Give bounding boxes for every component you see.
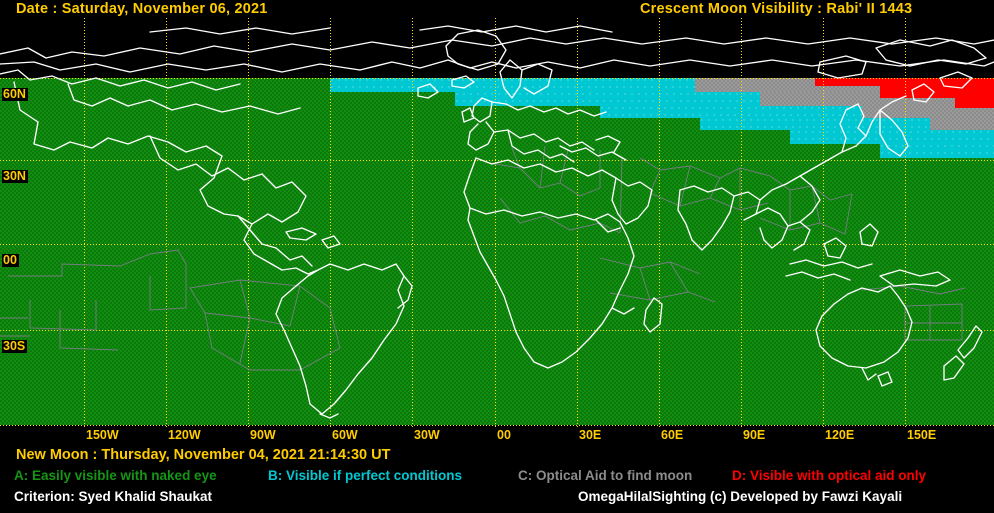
longitude-tick-label: 90E: [743, 427, 765, 443]
footer-bar: New Moon : Thursday, November 04, 2021 2…: [0, 447, 994, 513]
latitude-tick-label: 00: [2, 254, 19, 267]
gridline-meridian: [84, 18, 85, 428]
gridline-meridian: [905, 18, 906, 428]
zone-d-band: [880, 86, 994, 98]
credit-label: OmegaHilalSighting (c) Developed by Fawz…: [578, 489, 902, 504]
latitude-tick-label: 30S: [2, 340, 27, 353]
header-bar: Date : Saturday, November 06, 2021 Cresc…: [0, 0, 994, 20]
criterion-label: Criterion: Syed Khalid Shaukat: [14, 489, 212, 504]
longitude-tick-label: 60W: [332, 427, 358, 443]
gridline-parallel: [0, 160, 994, 161]
legend-d: D: Visible with optical aid only: [732, 468, 926, 483]
date-label: Date : Saturday, November 06, 2021: [16, 1, 268, 17]
zone-b-band: [880, 144, 994, 158]
gridline-meridian: [412, 18, 413, 428]
gridline-parallel: [0, 330, 994, 331]
zone-d-band: [955, 98, 994, 108]
longitude-tick-label: 90W: [250, 427, 276, 443]
longitude-tick-label: 30E: [579, 427, 601, 443]
longitude-labels: 150W120W90W60W30W0030E60E90E120E150E: [0, 427, 994, 447]
gridline-parallel: [0, 244, 994, 245]
longitude-tick-label: 60E: [661, 427, 683, 443]
legend-b: B: Visible if perfect conditions: [268, 468, 462, 483]
gridline-parallel: [0, 78, 994, 79]
zone-b-band: [790, 130, 994, 144]
latitude-tick-label: 30N: [2, 170, 28, 183]
world-map: 60N30N0030S60S: [0, 18, 994, 428]
gridline-meridian: [659, 18, 660, 428]
zone-c-band: [930, 118, 994, 130]
gridline-meridian: [166, 18, 167, 428]
longitude-tick-label: 120E: [825, 427, 854, 443]
longitude-tick-label: 120W: [168, 427, 201, 443]
visibility-map-app: Date : Saturday, November 06, 2021 Cresc…: [0, 0, 994, 513]
gridline-meridian: [248, 18, 249, 428]
latitude-tick-label: 60N: [2, 88, 28, 101]
legend-c: C: Optical Aid to find moon: [518, 468, 692, 483]
gridline-meridian: [741, 18, 742, 428]
longitude-tick-label: 150E: [907, 427, 936, 443]
page-title: Crescent Moon Visibility : Rabi' II 1443: [640, 1, 912, 17]
legend-a: A: Easily visible with naked eye: [14, 468, 217, 483]
gridline-meridian: [823, 18, 824, 428]
longitude-tick-label: 150W: [86, 427, 119, 443]
new-moon-label: New Moon : Thursday, November 04, 2021 2…: [16, 447, 390, 463]
longitude-tick-label: 00: [497, 427, 511, 443]
gridline-parallel: [0, 425, 994, 426]
gridline-meridian: [495, 18, 496, 428]
longitude-tick-label: 30W: [414, 427, 440, 443]
map-canvas: [0, 18, 994, 428]
gridline-meridian: [577, 18, 578, 428]
gridline-meridian: [330, 18, 331, 428]
